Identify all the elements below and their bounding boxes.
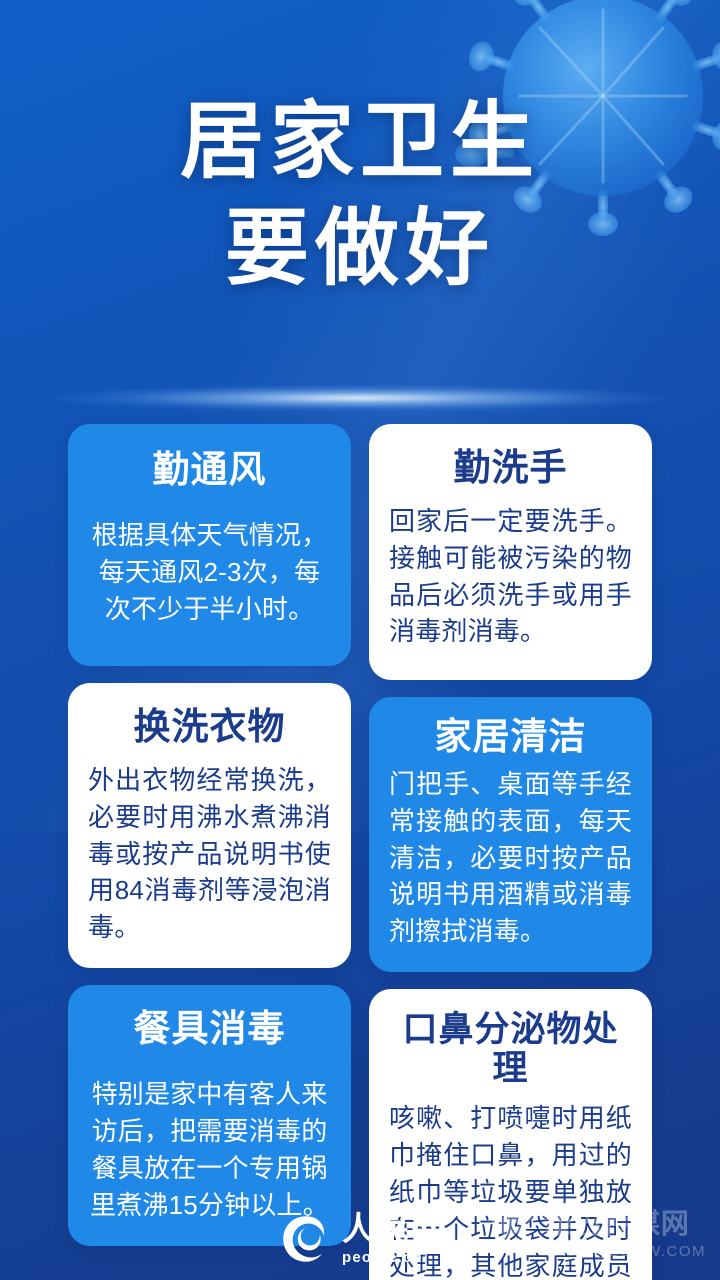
tip-card-handwashing: 勤洗手 回家后一定要洗手。接触可能被污染的物品后必须洗手或用手消毒剂消毒。 — [369, 424, 652, 680]
tip-card-title: 家居清洁 — [389, 717, 632, 758]
kbcmw-url: WWW.KBCMW.COM — [545, 1243, 706, 1260]
tip-card-ventilation: 勤通风 根据具体天气情况，每天通风2-3次，每次不少于半小时。 — [68, 424, 351, 666]
page-title-line-1: 居家卫生 — [0, 92, 720, 191]
tip-card-body: 根据具体天气情况，每天通风2-3次，每次不少于半小时。 — [88, 517, 331, 628]
tip-card-title: 口鼻分泌物处理 — [389, 1011, 632, 1088]
tip-card-title: 勤通风 — [88, 450, 331, 491]
tip-card-laundry: 换洗衣物 外出衣物经常换洗，必要时用沸水煮沸消毒或按产品说明书使用84消毒剂等浸… — [68, 683, 351, 968]
people-cn-logo-icon — [280, 1213, 332, 1265]
glow-divider — [55, 385, 665, 411]
tip-card-title: 餐具消毒 — [88, 1009, 331, 1050]
tip-card-body: 门把手、桌面等手经常接触的表面，每天清洁，必要时按产品说明书用酒精或消毒剂擦拭消… — [389, 766, 632, 951]
people-cn-name: 人民网 — [342, 1212, 447, 1245]
kbcmw-watermark: 康巴传媒网 WWW.KBCMW.COM — [487, 1210, 706, 1260]
kbcmw-wordmark: 康巴传媒网 WWW.KBCMW.COM — [545, 1210, 706, 1260]
poster-footer: 人民网 people.cn 康巴传媒网 WWW.KBCMW.COM — [0, 1188, 720, 1280]
card-column-left: 勤通风 根据具体天气情况，每天通风2-3次，每次不少于半小时。 换洗衣物 外出衣… — [68, 424, 351, 1280]
tip-card-home-cleaning: 家居清洁 门把手、桌面等手经常接触的表面，每天清洁，必要时按产品说明书用酒精或消… — [369, 697, 652, 972]
tip-card-body: 回家后一定要洗手。接触可能被污染的物品后必须洗手或用手消毒剂消毒。 — [389, 503, 632, 651]
tip-card-title: 换洗衣物 — [88, 707, 331, 748]
poster-header: 居家卫生 要做好 — [0, 92, 720, 298]
kbcmw-name: 康巴传媒网 — [545, 1210, 690, 1238]
tips-card-grid: 勤通风 根据具体天气情况，每天通风2-3次，每次不少于半小时。 换洗衣物 外出衣… — [68, 424, 652, 1280]
card-column-right: 勤洗手 回家后一定要洗手。接触可能被污染的物品后必须洗手或用手消毒剂消毒。 家居… — [369, 424, 652, 1280]
page-title-line-2: 要做好 — [0, 199, 720, 298]
tip-card-title: 勤洗手 — [389, 448, 632, 489]
people-cn-domain: people.cn — [342, 1249, 423, 1266]
tip-card-body: 外出衣物经常换洗，必要时用沸水煮沸消毒或按产品说明书使用84消毒剂等浸泡消毒。 — [88, 762, 331, 947]
kbcmw-logo-icon — [487, 1212, 539, 1258]
people-cn-wordmark: 人民网 people.cn — [342, 1212, 447, 1266]
poster-canvas: 居家卫生 要做好 勤通风 根据具体天气情况，每天通风2-3次，每次不少于半小时。… — [0, 0, 720, 1280]
people-cn-logo: 人民网 people.cn — [280, 1212, 447, 1266]
